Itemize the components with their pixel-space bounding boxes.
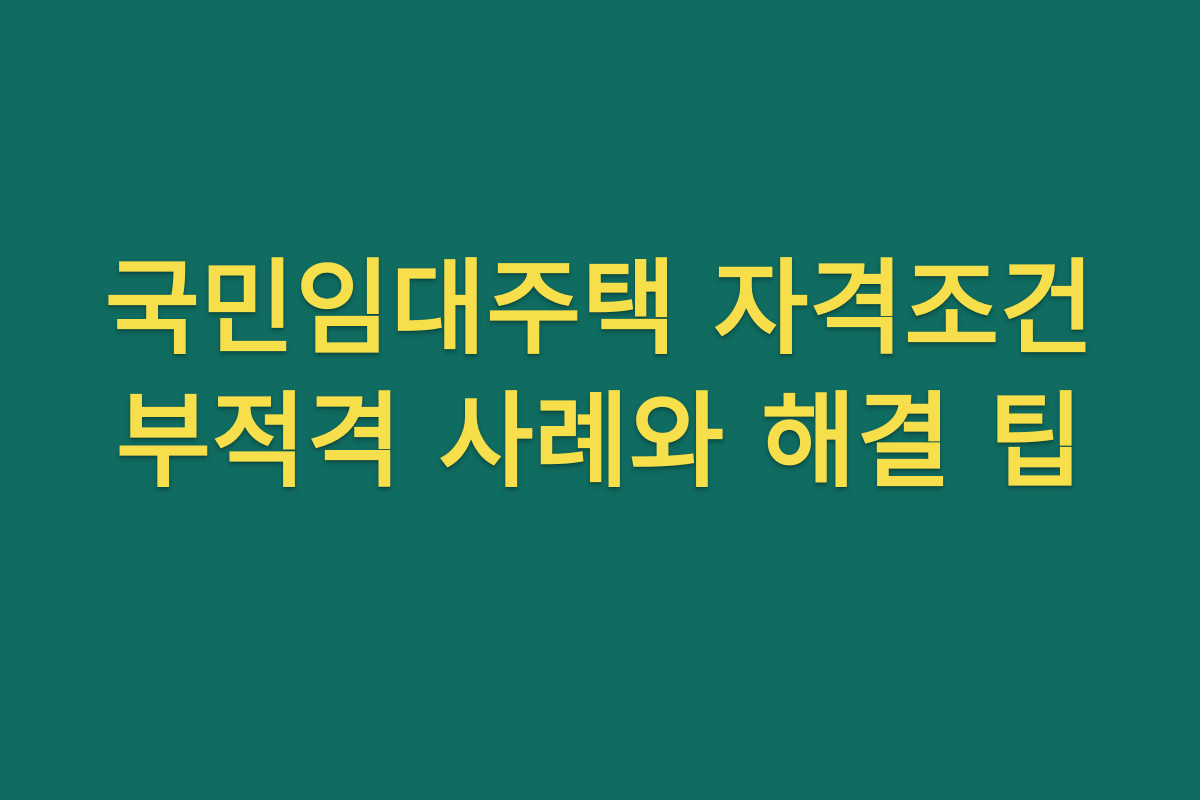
headline-line-2: 부적격 사례와 해결 팁 <box>116 375 1084 510</box>
thumbnail-canvas: 국민임대주택 자격조건 부적격 사례와 해결 팁 <box>0 0 1200 800</box>
headline-block: 국민임대주택 자격조건 부적격 사례와 해결 팁 <box>0 242 1200 510</box>
headline-line-1: 국민임대주택 자격조건 <box>105 242 1095 377</box>
